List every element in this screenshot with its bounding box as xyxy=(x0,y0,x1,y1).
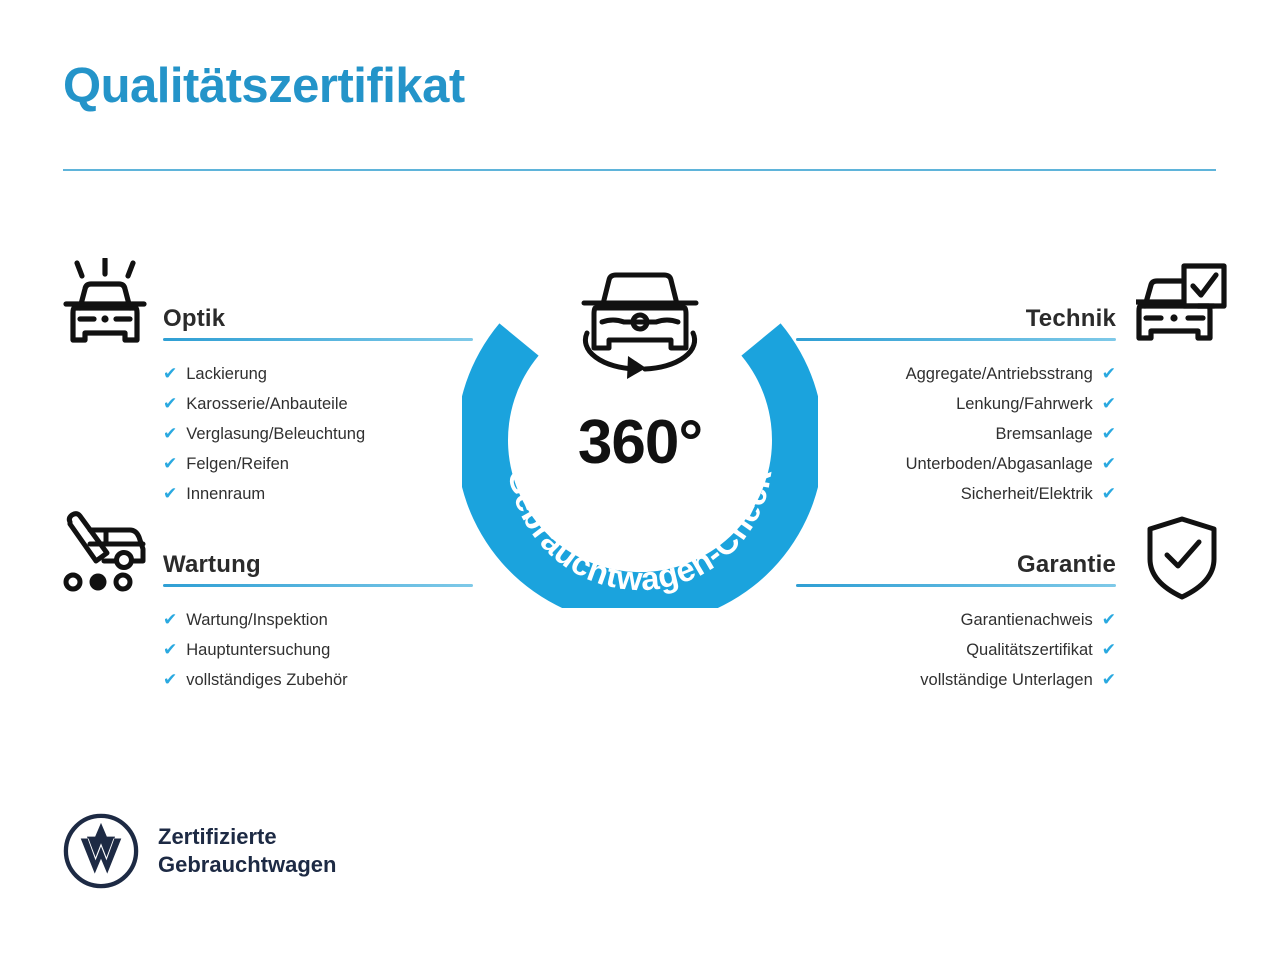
section-garantie-list: Garantienachweis✔ Qualitätszertifikat✔ v… xyxy=(796,605,1116,695)
shield-check-icon xyxy=(1143,514,1221,602)
list-item: Bremsanlage✔ xyxy=(796,419,1116,449)
check-icon: ✔ xyxy=(163,635,177,665)
list-item-label: Felgen/Reifen xyxy=(186,449,289,479)
list-item: Garantienachweis✔ xyxy=(796,605,1116,635)
list-item-label: Unterboden/Abgasanlage xyxy=(906,449,1093,479)
list-item-label: Aggregate/Antriebsstrang xyxy=(906,359,1093,389)
check-icon: ✔ xyxy=(163,605,177,635)
page-title: Qualitätszertifikat xyxy=(63,60,465,114)
car-service-icon xyxy=(60,508,150,596)
list-item: ✔Innenraum xyxy=(163,479,473,509)
list-item: ✔Lackierung xyxy=(163,359,473,389)
certificate-page: Qualitätszertifikat xyxy=(0,0,1280,960)
list-item: ✔Felgen/Reifen xyxy=(163,449,473,479)
car-rotate-icon xyxy=(584,275,696,379)
list-item-label: Lenkung/Fahrwerk xyxy=(956,389,1093,419)
car-checkbox-icon xyxy=(1136,262,1228,352)
badge-degrees-label: 360° xyxy=(462,412,818,474)
list-item: Aggregate/Antriebsstrang✔ xyxy=(796,359,1116,389)
section-optik-rule xyxy=(163,338,473,341)
list-item-label: Bremsanlage xyxy=(996,419,1093,449)
list-item-label: Lackierung xyxy=(186,359,267,389)
check-icon: ✔ xyxy=(163,665,177,695)
section-wartung-list: ✔Wartung/Inspektion ✔Hauptuntersuchung ✔… xyxy=(163,605,473,695)
section-wartung-rule xyxy=(163,584,473,587)
list-item: Sicherheit/Elektrik✔ xyxy=(796,479,1116,509)
check-icon: ✔ xyxy=(1102,479,1116,509)
section-technik-list: Aggregate/Antriebsstrang✔ Lenkung/Fahrwe… xyxy=(796,359,1116,509)
footer-line-1: Zertifizierte xyxy=(158,823,336,851)
check-icon: ✔ xyxy=(1102,665,1116,695)
list-item: ✔Verglasung/Beleuchtung xyxy=(163,419,473,449)
list-item-label: Verglasung/Beleuchtung xyxy=(186,419,365,449)
check-icon: ✔ xyxy=(1102,419,1116,449)
check-icon: ✔ xyxy=(1102,389,1116,419)
check-icon: ✔ xyxy=(163,449,177,479)
section-technik-head: Technik xyxy=(796,295,1116,341)
check-icon: ✔ xyxy=(163,419,177,449)
section-optik-list: ✔Lackierung ✔Karosserie/Anbauteile ✔Verg… xyxy=(163,359,473,509)
section-optik: Optik ✔Lackierung ✔Karosserie/Anbauteile… xyxy=(163,295,473,509)
section-wartung: Wartung ✔Wartung/Inspektion ✔Hauptunters… xyxy=(163,541,473,695)
section-wartung-head: Wartung xyxy=(163,541,473,587)
list-item: Qualitätszertifikat✔ xyxy=(796,635,1116,665)
check-icon: ✔ xyxy=(1102,449,1116,479)
list-item-label: Innenraum xyxy=(186,479,265,509)
check-icon: ✔ xyxy=(1102,635,1116,665)
list-item-label: vollständige Unterlagen xyxy=(920,665,1092,695)
section-technik: Technik Aggregate/Antriebsstrang✔ Lenkun… xyxy=(796,295,1116,509)
list-item: Unterboden/Abgasanlage✔ xyxy=(796,449,1116,479)
list-item-label: Qualitätszertifikat xyxy=(966,635,1093,665)
list-item-label: Garantienachweis xyxy=(961,605,1093,635)
car-shine-icon xyxy=(60,258,150,354)
vw-certified-lockup: Zertifizierte Gebrauchtwagen xyxy=(62,812,336,890)
check-icon: ✔ xyxy=(163,479,177,509)
section-garantie: Garantie Garantienachweis✔ Qualitätszert… xyxy=(796,541,1116,695)
list-item-label: Wartung/Inspektion xyxy=(186,605,328,635)
check-icon: ✔ xyxy=(163,359,177,389)
list-item-label: Karosserie/Anbauteile xyxy=(186,389,347,419)
list-item: ✔Wartung/Inspektion xyxy=(163,605,473,635)
list-item: Lenkung/Fahrwerk✔ xyxy=(796,389,1116,419)
section-technik-title: Technik xyxy=(1026,305,1116,333)
section-wartung-title: Wartung xyxy=(163,551,261,579)
section-garantie-title: Garantie xyxy=(1017,551,1116,579)
list-item: ✔Karosserie/Anbauteile xyxy=(163,389,473,419)
section-garantie-rule xyxy=(796,584,1116,587)
section-garantie-head: Garantie xyxy=(796,541,1116,587)
list-item-label: Hauptuntersuchung xyxy=(186,635,330,665)
section-optik-title: Optik xyxy=(163,305,225,333)
check-icon: ✔ xyxy=(163,389,177,419)
check-icon: ✔ xyxy=(1102,605,1116,635)
list-item-label: Sicherheit/Elektrik xyxy=(961,479,1093,509)
footer-line-2: Gebrauchtwagen xyxy=(158,851,336,879)
section-optik-head: Optik xyxy=(163,295,473,341)
footer-text: Zertifizierte Gebrauchtwagen xyxy=(158,823,336,879)
badge-360-gebrauchtwagen-check: Gebrauchtwagen-Check xyxy=(462,244,818,608)
list-item-label: vollständiges Zubehör xyxy=(186,665,347,695)
list-item: ✔vollständiges Zubehör xyxy=(163,665,473,695)
vw-logo xyxy=(62,812,140,890)
header-divider xyxy=(63,169,1216,171)
list-item: vollständige Unterlagen✔ xyxy=(796,665,1116,695)
list-item: ✔Hauptuntersuchung xyxy=(163,635,473,665)
section-technik-rule xyxy=(796,338,1116,341)
check-icon: ✔ xyxy=(1102,359,1116,389)
